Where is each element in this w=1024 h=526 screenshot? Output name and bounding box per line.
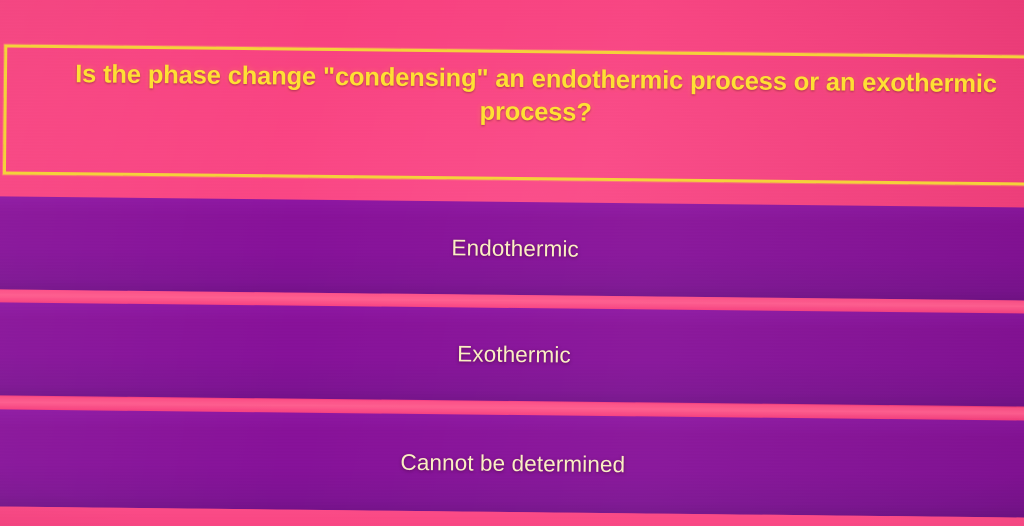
quiz-slide-screen: Is the phase change "condensing" an endo…	[0, 0, 1024, 526]
answer-option-label: Cannot be determined	[400, 449, 625, 477]
answer-option-endothermic[interactable]: Endothermic	[0, 196, 1024, 301]
slide-content-layer: Is the phase change "condensing" an endo…	[0, 0, 1024, 526]
question-text: Is the phase change "condensing" an endo…	[3, 48, 1024, 135]
answer-option-cannot-be-determined[interactable]: Cannot be determined	[0, 409, 1024, 518]
answer-option-label: Exothermic	[457, 341, 571, 368]
answer-option-exothermic[interactable]: Exothermic	[0, 302, 1024, 407]
answer-option-label: Endothermic	[451, 235, 579, 262]
